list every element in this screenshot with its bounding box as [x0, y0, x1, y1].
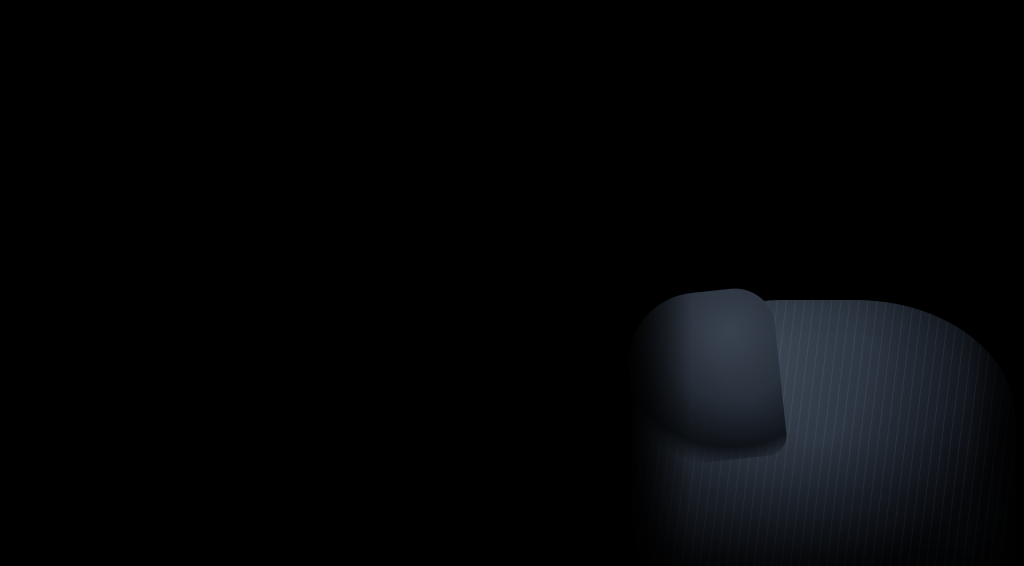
credit-title: Physical Therapist（PT）: [0, 54, 183, 71]
title-slide: 浮き指を悪化させない靴 「幅」より大切な5つの判断基準 Physical The…: [0, 0, 1024, 566]
portrait-photo: [624, 0, 1024, 566]
headline-main: 悪化させない靴: [64, 6, 176, 23]
headline-accent: 浮き指を: [0, 6, 64, 23]
credit-name: YOSHIRO YUASA: [199, 54, 331, 71]
credit-separator: ｜: [183, 54, 199, 71]
subheadline-accent: 5つの判断基準: [128, 30, 233, 47]
suit-shoulder-left: [624, 285, 788, 470]
suit-shoulder-right: [854, 288, 1019, 488]
subheadline-main: 「幅」より大切な: [0, 30, 128, 47]
